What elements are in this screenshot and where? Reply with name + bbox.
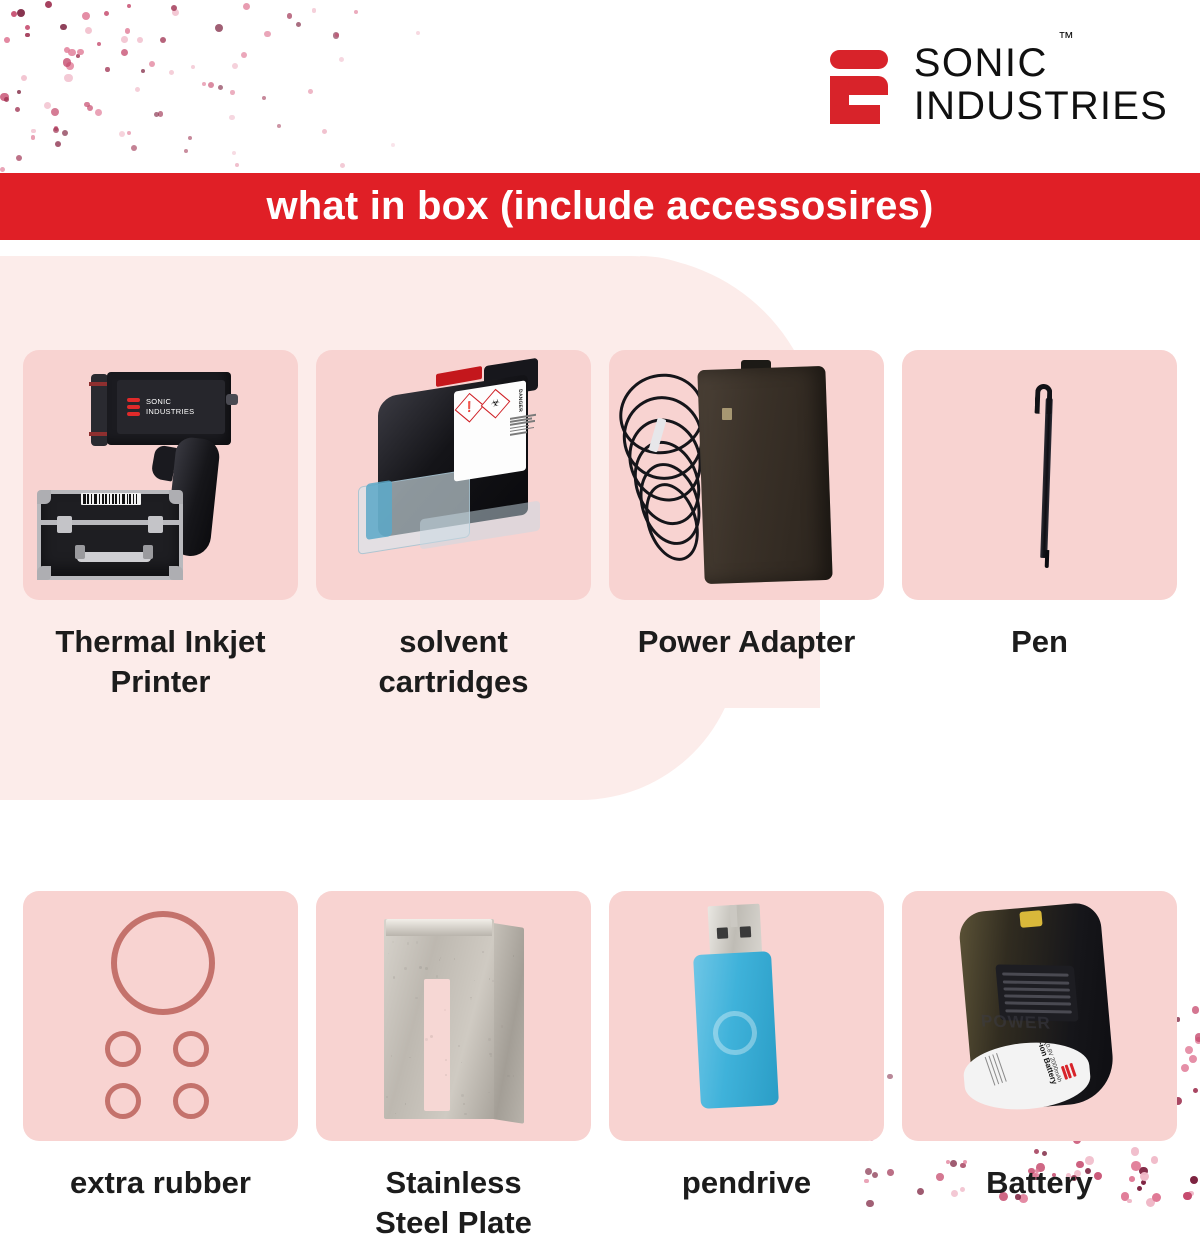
brand-wordmark: SONIC ™ INDUSTRIES (914, 43, 1168, 127)
printer-logo-line1: SONIC (146, 397, 194, 407)
steel-plate-illustration-icon (316, 891, 591, 1141)
caption-thermal-inkjet-printer: Thermal Inkjet Printer (14, 622, 307, 701)
grid-item-solvent-cartridges: ❗ ☣ DANGER solvent cartridges (307, 350, 600, 701)
caption-stainless-steel-plate: Stainless Steel Plate (307, 1163, 600, 1242)
hazard-danger-word: DANGER (517, 389, 523, 413)
ghs-toxic-icon: ☣ (481, 389, 511, 419)
rubber-orings-illustration-icon (23, 891, 298, 1141)
battery-illustration-icon: POWER Li-ion Battery 10.8V 2000mAh (902, 891, 1177, 1141)
grid-item-stainless-steel-plate: Stainless Steel Plate (307, 891, 600, 1242)
cartridge-illustration-icon: ❗ ☣ DANGER (316, 350, 591, 600)
caption-battery: Battery (893, 1163, 1186, 1203)
power-adapter-illustration-icon (609, 350, 884, 600)
product-card-steel-plate (316, 891, 591, 1141)
grid-item-thermal-inkjet-printer: SONIC INDUSTRIES Thermal Inkje (14, 350, 307, 701)
product-card-battery: POWER Li-ion Battery 10.8V 2000mAh (902, 891, 1177, 1141)
brand-lockup: SONIC ™ INDUSTRIES (830, 43, 1168, 127)
barcode-icon (81, 493, 141, 505)
ghs-exclamation-icon: ❗ (455, 393, 485, 423)
grid-item-power-adapter: Power Adapter (600, 350, 893, 701)
grid-item-pendrive: pendrive (600, 891, 893, 1242)
sonic-s-logo-icon (830, 46, 892, 124)
oring-small-icon (173, 1031, 209, 1067)
oring-large-icon (111, 911, 215, 1015)
oring-small-icon (173, 1083, 209, 1119)
pendrive-illustration-icon (609, 891, 884, 1141)
battery-label-textlines (982, 1053, 1007, 1087)
grid-item-battery: POWER Li-ion Battery 10.8V 2000mAh Batte… (893, 891, 1186, 1242)
carry-case-icon (37, 490, 183, 580)
page-header: SONIC ™ INDUSTRIES (0, 0, 1200, 170)
product-card-pen (902, 350, 1177, 600)
hazard-label: ❗ ☣ DANGER (454, 380, 526, 481)
page-title: what in box (include accessosires) (266, 184, 933, 229)
product-card-power-adapter (609, 350, 884, 600)
label-text-lines (510, 384, 536, 468)
product-card-printer: SONIC INDUSTRIES (23, 350, 298, 600)
caption-extra-rubber: extra rubber (14, 1163, 307, 1203)
brand-name-line1: SONIC ™ (914, 43, 1048, 84)
grid-item-extra-rubber: extra rubber (14, 891, 307, 1242)
caption-pendrive: pendrive (600, 1163, 893, 1203)
product-card-rubber (23, 891, 298, 1141)
product-card-cartridge: ❗ ☣ DANGER (316, 350, 591, 600)
trademark-icon: ™ (1058, 31, 1074, 47)
accessory-grid: SONIC INDUSTRIES Thermal Inkje (0, 350, 1200, 1243)
grid-item-pen: Pen (893, 350, 1186, 701)
caption-pen: Pen (893, 622, 1186, 662)
oring-small-icon (105, 1031, 141, 1067)
caption-solvent-cartridges: solvent cartridges (307, 622, 600, 701)
printer-logo-line2: INDUSTRIES (146, 407, 194, 417)
printer-brand-logo-icon (127, 398, 140, 416)
banner: what in box (include accessosires) (0, 173, 1200, 240)
battery-brand-logo-icon (1061, 1063, 1077, 1080)
caption-power-adapter: Power Adapter (600, 622, 893, 662)
product-card-pendrive (609, 891, 884, 1141)
oring-small-icon (105, 1083, 141, 1119)
pen-illustration-icon (902, 350, 1177, 600)
brand-name-sonic: SONIC (914, 41, 1048, 85)
printer-illustration-icon: SONIC INDUSTRIES (23, 350, 298, 600)
brand-name-industries: INDUSTRIES (914, 86, 1168, 127)
